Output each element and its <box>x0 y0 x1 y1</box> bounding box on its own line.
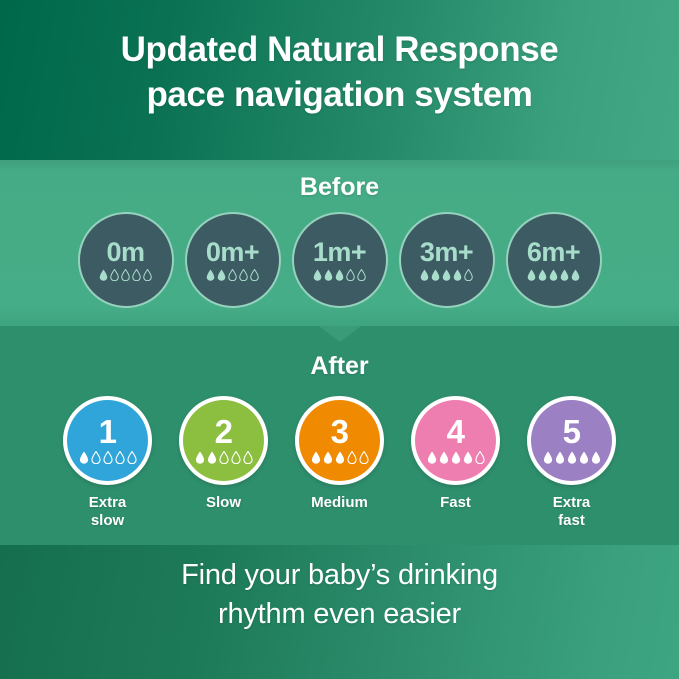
water-drop-icon <box>567 451 577 464</box>
water-drop-icon <box>239 269 248 281</box>
water-drop-icon <box>335 269 344 281</box>
drop-meter <box>195 451 253 464</box>
water-drop-icon <box>195 451 205 464</box>
after-badge-circle[interactable]: 4 <box>411 396 500 485</box>
after-badge-caption-line-2: fast <box>524 512 620 530</box>
after-badge-number: 5 <box>563 415 581 448</box>
after-badge-row: 1Extraslow2Slow3Medium4Fast5Extrafast <box>0 396 679 531</box>
water-drop-icon <box>439 451 449 464</box>
water-drop-icon <box>250 269 259 281</box>
before-badge-label: 0m+ <box>206 239 259 266</box>
after-badge-circle[interactable]: 5 <box>527 396 616 485</box>
water-drop-icon <box>475 451 485 464</box>
after-badge[interactable]: 5Extrafast <box>524 396 620 531</box>
drop-meter <box>311 451 369 464</box>
after-badge-caption-line-1: Extra <box>524 494 620 512</box>
infographic-root: Updated Natural Response pace navigation… <box>0 0 679 679</box>
before-badge-label: 6m+ <box>527 239 580 266</box>
after-badge-number: 3 <box>331 415 349 448</box>
before-badge[interactable]: 3m+ <box>399 212 495 308</box>
before-badge[interactable]: 1m+ <box>292 212 388 308</box>
after-badge-caption-line-1: Fast <box>408 494 504 512</box>
page-title: Updated Natural Response pace navigation… <box>0 28 679 118</box>
drop-meter <box>420 269 473 281</box>
water-drop-icon <box>549 269 558 281</box>
after-badge-number: 2 <box>215 415 233 448</box>
before-badge-circle[interactable]: 0m+ <box>185 212 281 308</box>
water-drop-icon <box>91 451 101 464</box>
before-badge-circle[interactable]: 1m+ <box>292 212 388 308</box>
drop-meter <box>543 451 601 464</box>
water-drop-icon <box>357 269 366 281</box>
water-drop-icon <box>99 269 108 281</box>
after-badge-caption-line-1: Extra <box>60 494 156 512</box>
arrow-down-icon <box>319 326 361 342</box>
after-badge-caption: Slow <box>176 494 272 512</box>
after-badge-caption: Medium <box>292 494 388 512</box>
drop-meter <box>427 451 485 464</box>
after-badge-circle[interactable]: 3 <box>295 396 384 485</box>
water-drop-icon <box>228 269 237 281</box>
water-drop-icon <box>591 451 601 464</box>
water-drop-icon <box>127 451 137 464</box>
water-drop-icon <box>311 451 321 464</box>
before-badge-circle[interactable]: 0m <box>78 212 174 308</box>
drop-meter <box>206 269 259 281</box>
water-drop-icon <box>538 269 547 281</box>
page-title-line-2: pace navigation system <box>0 73 679 118</box>
water-drop-icon <box>420 269 429 281</box>
water-drop-icon <box>313 269 322 281</box>
water-drop-icon <box>79 451 89 464</box>
water-drop-icon <box>323 451 333 464</box>
footer-tagline-line-2: rhythm even easier <box>0 595 679 634</box>
after-badge-circle[interactable]: 1 <box>63 396 152 485</box>
before-badge-label: 1m+ <box>313 239 366 266</box>
before-badge-circle[interactable]: 6m+ <box>506 212 602 308</box>
after-badge-circle[interactable]: 2 <box>179 396 268 485</box>
water-drop-icon <box>555 451 565 464</box>
header-band: Updated Natural Response pace navigation… <box>0 0 679 160</box>
water-drop-icon <box>243 451 253 464</box>
before-heading: Before <box>0 173 679 202</box>
water-drop-icon <box>579 451 589 464</box>
water-drop-icon <box>543 451 553 464</box>
water-drop-icon <box>207 451 217 464</box>
after-badge[interactable]: 1Extraslow <box>60 396 156 531</box>
water-drop-icon <box>560 269 569 281</box>
water-drop-icon <box>427 451 437 464</box>
footer-tagline-line-1: Find your baby’s drinking <box>0 556 679 595</box>
water-drop-icon <box>451 451 461 464</box>
water-drop-icon <box>359 451 369 464</box>
water-drop-icon <box>347 451 357 464</box>
before-badge[interactable]: 0m+ <box>185 212 281 308</box>
water-drop-icon <box>217 269 226 281</box>
water-drop-icon <box>463 451 473 464</box>
after-badge-caption-line-1: Slow <box>176 494 272 512</box>
drop-meter <box>527 269 580 281</box>
water-drop-icon <box>143 269 152 281</box>
after-badge-number: 4 <box>447 415 465 448</box>
water-drop-icon <box>324 269 333 281</box>
before-badge[interactable]: 6m+ <box>506 212 602 308</box>
after-heading: After <box>0 352 679 381</box>
water-drop-icon <box>206 269 215 281</box>
water-drop-icon <box>335 451 345 464</box>
after-badge[interactable]: 4Fast <box>408 396 504 512</box>
after-badge-caption: Extraslow <box>60 494 156 531</box>
footer-tagline: Find your baby’s drinking rhythm even ea… <box>0 556 679 634</box>
water-drop-icon <box>431 269 440 281</box>
before-badge-label: 0m <box>106 239 144 266</box>
water-drop-icon <box>453 269 462 281</box>
drop-meter <box>99 269 152 281</box>
page-title-line-1: Updated Natural Response <box>0 28 679 73</box>
after-badge-caption-line-2: slow <box>60 512 156 530</box>
water-drop-icon <box>571 269 580 281</box>
drop-meter <box>79 451 137 464</box>
water-drop-icon <box>442 269 451 281</box>
water-drop-icon <box>115 451 125 464</box>
water-drop-icon <box>219 451 229 464</box>
water-drop-icon <box>527 269 536 281</box>
after-badge-caption: Fast <box>408 494 504 512</box>
after-badge[interactable]: 3Medium <box>292 396 388 512</box>
water-drop-icon <box>231 451 241 464</box>
before-badge-circle[interactable]: 3m+ <box>399 212 495 308</box>
water-drop-icon <box>464 269 473 281</box>
after-badge-caption: Extrafast <box>524 494 620 531</box>
water-drop-icon <box>121 269 130 281</box>
before-badge-label: 3m+ <box>420 239 473 266</box>
water-drop-icon <box>103 451 113 464</box>
after-badge-caption-line-1: Medium <box>292 494 388 512</box>
before-badge-row: 0m0m+1m+3m+6m+ <box>0 212 679 308</box>
before-badge[interactable]: 0m <box>78 212 174 308</box>
drop-meter <box>313 269 366 281</box>
water-drop-icon <box>110 269 119 281</box>
water-drop-icon <box>132 269 141 281</box>
after-badge[interactable]: 2Slow <box>176 396 272 512</box>
water-drop-icon <box>346 269 355 281</box>
after-badge-number: 1 <box>99 415 117 448</box>
